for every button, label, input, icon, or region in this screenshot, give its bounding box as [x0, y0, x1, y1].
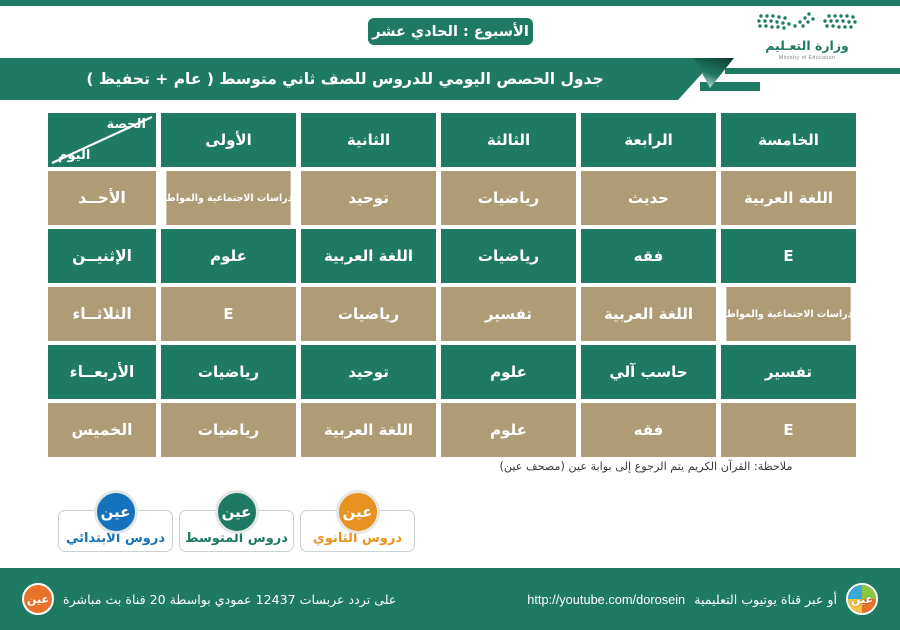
ein-logo-icon-orange: عين: [22, 583, 54, 615]
footnote: ملاحظة: القرآن الكريم يتم الرجوع إلى بوا…: [436, 460, 856, 473]
week-label-text: الأسبوع : الحادي عشر: [372, 24, 529, 40]
day-label-tuesday: الثلاثــاء: [48, 287, 156, 341]
badge-primary-text: عين: [101, 503, 131, 521]
badge-secondary[interactable]: دروس الثانوي عين: [300, 490, 415, 552]
ein-logo-icon-multicolor: عين: [846, 583, 878, 615]
corner-period-label: الحصة: [107, 117, 146, 132]
table-row: الدراسات الاجتماعية والمواطنة اللغة العر…: [44, 287, 856, 341]
cell-thursday-p2: اللغة العربية: [301, 403, 436, 457]
ein-logo-icon-intermediate: عين: [215, 490, 259, 534]
schedule-infographic: الأسبوع : الحادي عشر وزارة: [0, 0, 900, 630]
table-row: تفسير حاسب آلي علوم توحيد رياضيات الأربع…: [44, 345, 856, 399]
ein-badge-group: دروس الثانوي عين دروس المتوسط عين دروس ا…: [58, 490, 415, 552]
cell-wednesday-p3: علوم: [441, 345, 576, 399]
page-title: جدول الحصص اليومي للدروس للصف ثاني متوسط…: [0, 58, 690, 100]
cell-thursday-p5: E: [721, 403, 856, 457]
cell-sunday-p2: توحيد: [301, 171, 436, 225]
period-header-3: الثالثة: [441, 113, 576, 167]
cell-sunday-p5: اللغة العربية: [721, 171, 856, 225]
schedule-table: الخامسة الرابعة الثالثة الثانية الأولى ا…: [44, 113, 856, 457]
cell-wednesday-p4: حاسب آلي: [581, 345, 716, 399]
period-header-1: الأولى: [161, 113, 296, 167]
footer-satellite-group: على تردد عربسات 12437 عمودي بواسطة 20 قن…: [22, 583, 396, 615]
ministry-logo-dots-icon: [753, 12, 861, 36]
badge-intermediate-text: عين: [222, 503, 252, 521]
cell-wednesday-p5: تفسير: [721, 345, 856, 399]
week-label-pill: الأسبوع : الحادي عشر: [368, 18, 533, 45]
cell-tuesday-p1: E: [161, 287, 296, 341]
day-label-wednesday: الأربعــاء: [48, 345, 156, 399]
cell-sunday-p4: حديث: [581, 171, 716, 225]
table-row: اللغة العربية حديث رياضيات توحيد الدراسا…: [44, 171, 856, 225]
cell-wednesday-p1: رياضيات: [161, 345, 296, 399]
cell-tuesday-p5: الدراسات الاجتماعية والمواطنة: [726, 287, 850, 341]
cell-thursday-p1: رياضيات: [161, 403, 296, 457]
footer-left-badge-text: عين: [851, 593, 873, 606]
period-header-4: الرابعة: [581, 113, 716, 167]
footer-satellite-text: على تردد عربسات 12437 عمودي بواسطة 20 قن…: [63, 592, 396, 607]
ein-logo-icon-primary: عين: [94, 490, 138, 534]
table-row: E فقه رياضيات اللغة العربية علوم الإثنيـ…: [44, 229, 856, 283]
cell-tuesday-p3: تفسير: [441, 287, 576, 341]
footer-youtube-group: عين أو عبر قناة يوتيوب التعليمية http://…: [527, 583, 878, 615]
cell-thursday-p4: فقه: [581, 403, 716, 457]
corner-header-cell: الحصة اليوم: [48, 113, 156, 167]
footer-right-badge-text: عين: [27, 593, 49, 606]
cell-sunday-p1: الدراسات الاجتماعية والمواطنة: [166, 171, 290, 225]
cell-monday-p5: E: [721, 229, 856, 283]
badge-intermediate[interactable]: دروس المتوسط عين: [179, 490, 294, 552]
ministry-logo-arabic-text: وزارة التعـليم: [765, 38, 849, 53]
cell-sunday-p3: رياضيات: [441, 171, 576, 225]
badge-secondary-text: عين: [343, 503, 373, 521]
cell-tuesday-p2: رياضيات: [301, 287, 436, 341]
cell-tuesday-p4: اللغة العربية: [581, 287, 716, 341]
footer-bar: عين أو عبر قناة يوتيوب التعليمية http://…: [0, 568, 900, 630]
badge-primary[interactable]: دروس الابتدائي عين: [58, 490, 173, 552]
cell-monday-p4: فقه: [581, 229, 716, 283]
cell-monday-p3: رياضيات: [441, 229, 576, 283]
day-label-thursday: الخميس: [48, 403, 156, 457]
period-header-5: الخامسة: [721, 113, 856, 167]
ein-logo-icon-secondary: عين: [336, 490, 380, 534]
day-label-sunday: الأحــد: [48, 171, 156, 225]
cell-monday-p2: اللغة العربية: [301, 229, 436, 283]
footer-youtube-url[interactable]: http://youtube.com/dorosein: [527, 592, 685, 607]
day-label-monday: الإثنيــن: [48, 229, 156, 283]
cell-thursday-p3: علوم: [441, 403, 576, 457]
ministry-logo-english-text: Ministry of Education: [779, 55, 835, 61]
title-ribbon: جدول الحصص اليومي للدروس للصف ثاني متوسط…: [0, 58, 760, 100]
table-row: E فقه علوم اللغة العربية رياضيات الخميس: [44, 403, 856, 457]
footer-youtube-text: أو عبر قناة يوتيوب التعليمية: [694, 592, 837, 607]
cell-monday-p1: علوم: [161, 229, 296, 283]
corner-day-label: اليوم: [58, 148, 90, 163]
top-accent-bar: [0, 0, 900, 6]
cell-wednesday-p2: توحيد: [301, 345, 436, 399]
table-header-row: الخامسة الرابعة الثالثة الثانية الأولى ا…: [44, 113, 856, 167]
period-header-2: الثانية: [301, 113, 436, 167]
